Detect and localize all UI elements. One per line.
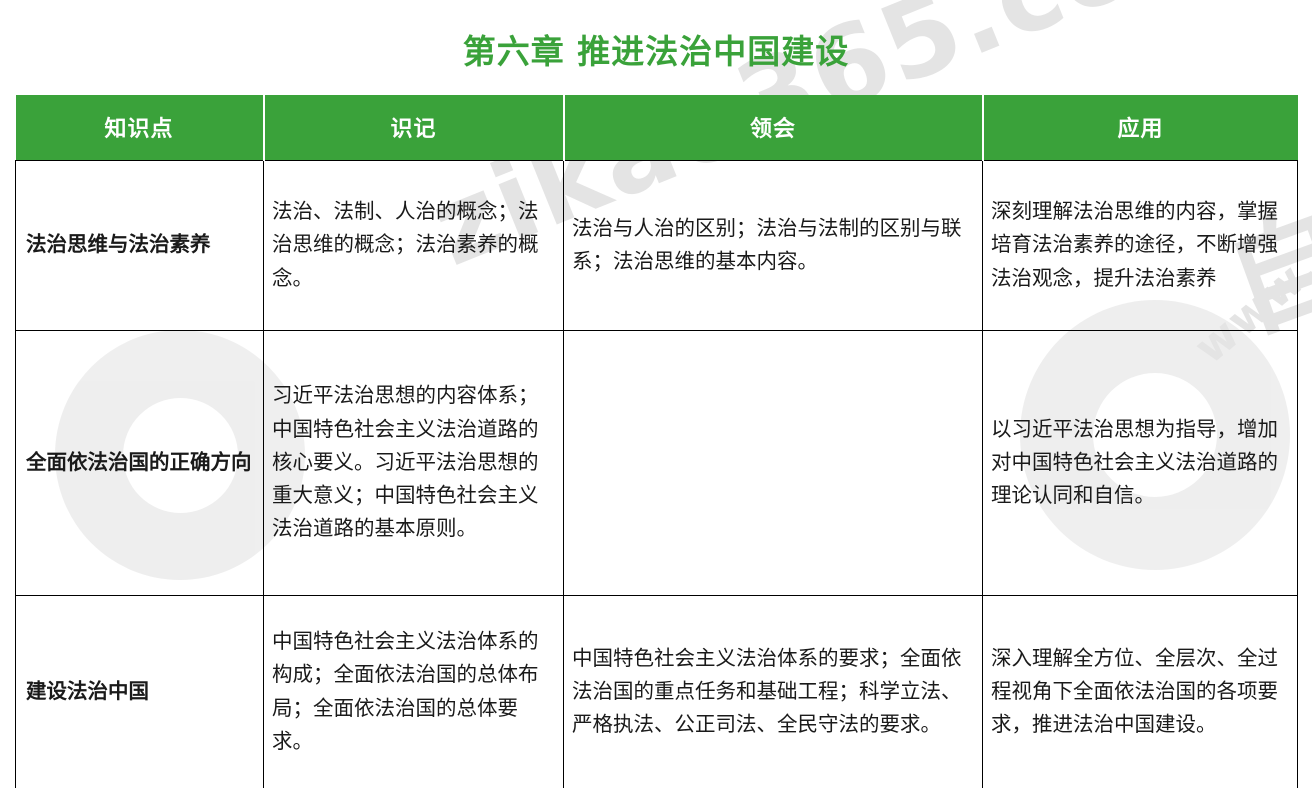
column-header-apply: 应用 [983,95,1298,160]
column-header-comprehend: 领会 [564,95,983,160]
page-root: zikao365.com www. 自考 第六章 推进法治中国建设 知识点 识记… [0,0,1312,788]
cell-apply: 深刻理解法治思维的内容，掌握培育法治素养的途径，不断增强法治观念，提升法治素养 [983,160,1298,330]
column-header-topic: 知识点 [16,95,264,160]
cell-apply: 以习近平法治思想为指导，增加对中国特色社会主义法治道路的理论认同和自信。 [983,330,1298,595]
cell-comprehend [564,330,983,595]
table-header-row: 知识点 识记 领会 应用 [16,95,1298,160]
table-body: 法治思维与法治素养 法治、法制、人治的概念；法治思维的概念；法治素养的概念。 法… [16,160,1298,788]
table-header: 知识点 识记 领会 应用 [16,95,1298,160]
knowledge-table: 知识点 识记 领会 应用 法治思维与法治素养 法治、法制、人治的概念；法治思维的… [15,95,1298,788]
cell-recall: 习近平法治思想的内容体系；中国特色社会主义法治道路的核心要义。习近平法治思想的重… [264,330,564,595]
cell-topic: 全面依法治国的正确方向 [16,330,264,595]
knowledge-table-container: 知识点 识记 领会 应用 法治思维与法治素养 法治、法制、人治的概念；法治思维的… [15,95,1297,788]
table-row: 法治思维与法治素养 法治、法制、人治的概念；法治思维的概念；法治素养的概念。 法… [16,160,1298,330]
cell-topic: 法治思维与法治素养 [16,160,264,330]
cell-topic: 建设法治中国 [16,595,264,788]
page-title: 第六章 推进法治中国建设 [463,25,850,73]
cell-recall: 法治、法制、人治的概念；法治思维的概念；法治素养的概念。 [264,160,564,330]
table-row: 建设法治中国 中国特色社会主义法治体系的构成；全面依法治国的总体布局；全面依法治… [16,595,1298,788]
table-row: 全面依法治国的正确方向 习近平法治思想的内容体系；中国特色社会主义法治道路的核心… [16,330,1298,595]
column-header-recall: 识记 [264,95,564,160]
cell-comprehend: 中国特色社会主义法治体系的要求；全面依法治国的重点任务和基础工程；科学立法、严格… [564,595,983,788]
cell-comprehend: 法治与人治的区别；法治与法制的区别与联系；法治思维的基本内容。 [564,160,983,330]
cell-recall: 中国特色社会主义法治体系的构成；全面依法治国的总体布局；全面依法治国的总体要求。 [264,595,564,788]
cell-apply: 深入理解全方位、全层次、全过程视角下全面依法治国的各项要求，推进法治中国建设。 [983,595,1298,788]
chapter-title-bar: 第六章 推进法治中国建设 [15,10,1297,88]
